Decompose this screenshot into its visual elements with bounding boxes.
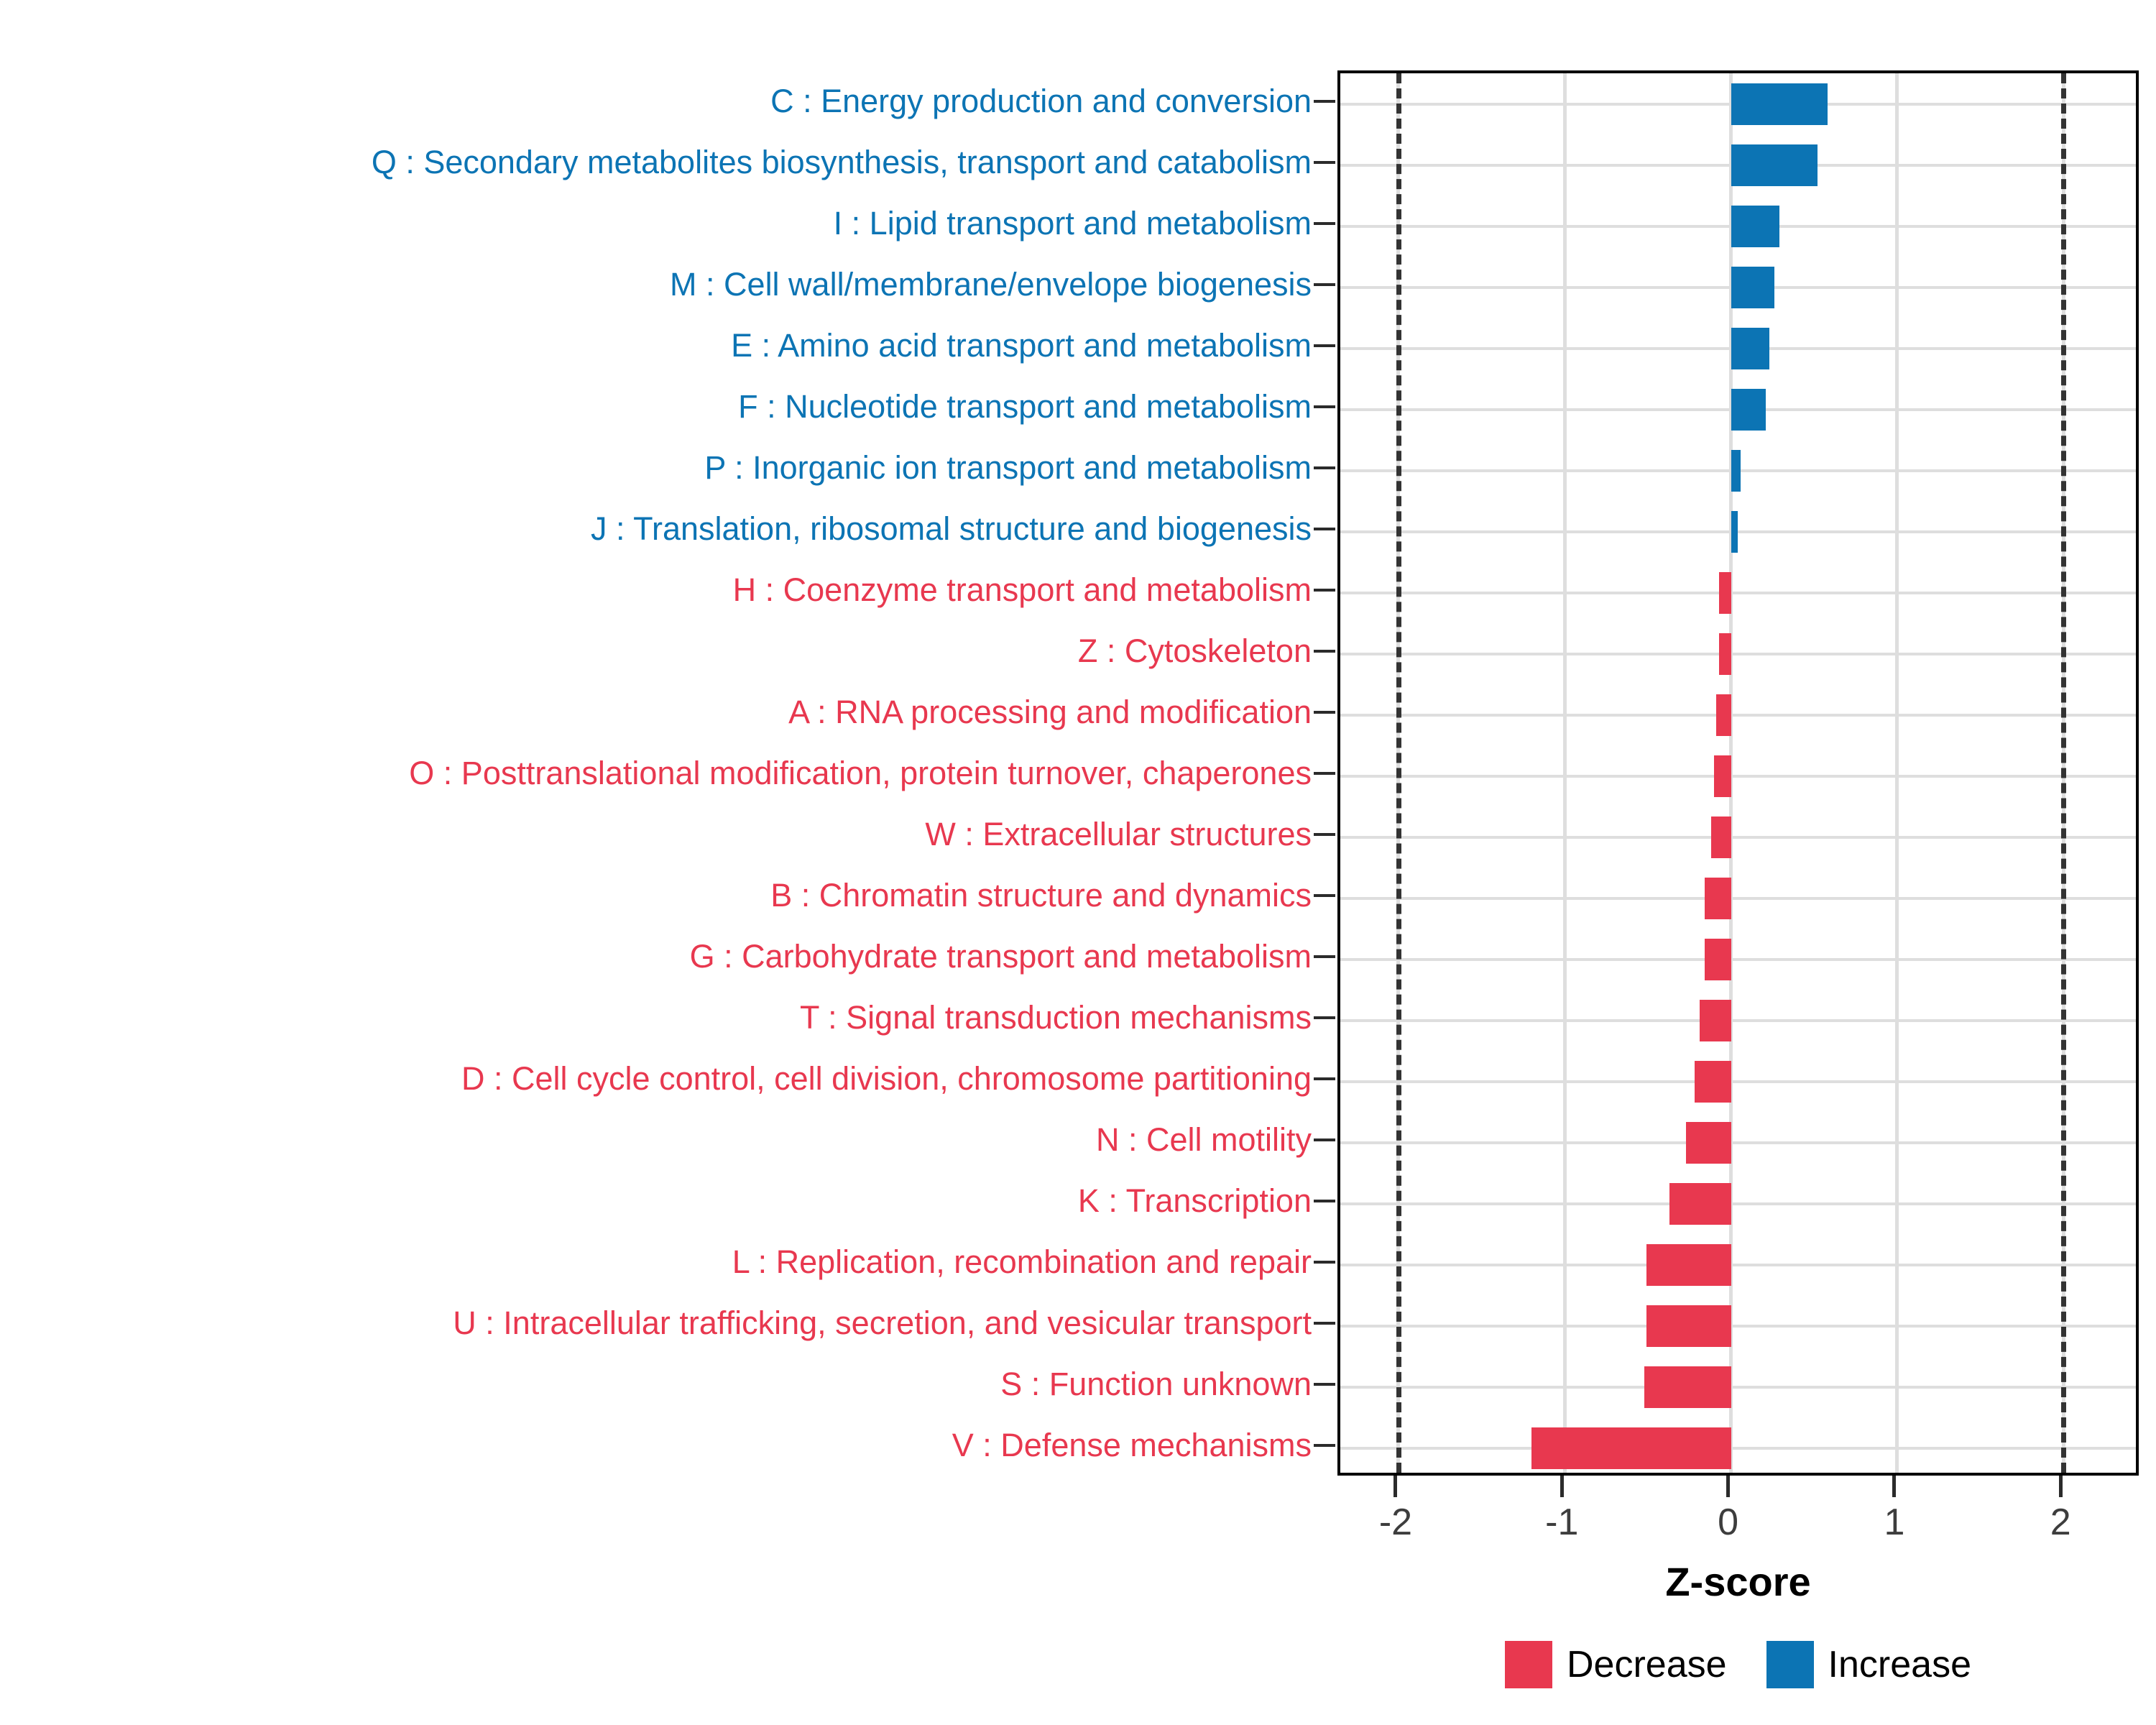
- y-axis-tick-mark: [1314, 466, 1335, 469]
- y-axis-tick-mark: [1314, 711, 1335, 714]
- bar: [1669, 1183, 1731, 1225]
- y-axis-tick-mark: [1314, 283, 1335, 286]
- bar: [1695, 1061, 1731, 1103]
- y-axis-tick-mark: [1314, 955, 1335, 958]
- legend-label: Increase: [1828, 1643, 1971, 1686]
- horizontal-gridline: [1340, 1202, 2136, 1205]
- y-axis-tick-mark: [1314, 772, 1335, 775]
- y-axis-tick-label: T : Signal transduction mechanisms: [800, 1000, 1312, 1036]
- x-axis-tick-label: -1: [1545, 1501, 1578, 1544]
- horizontal-gridline: [1340, 897, 2136, 900]
- chart-legend: DecreaseIncrease: [1337, 1636, 2139, 1693]
- legend-item[interactable]: Increase: [1766, 1641, 1971, 1688]
- vertical-gridline: [1895, 73, 1899, 1473]
- reference-line: [1396, 73, 1401, 1473]
- bar: [1731, 511, 1738, 553]
- bar: [1719, 633, 1731, 675]
- y-axis-tick-label: E : Amino acid transport and metabolism: [731, 328, 1312, 364]
- horizontal-gridline: [1340, 714, 2136, 717]
- y-axis-tick-mark: [1314, 161, 1335, 164]
- bar: [1714, 755, 1731, 797]
- y-axis-tick-label: N : Cell motility: [1096, 1122, 1312, 1158]
- bar: [1700, 1000, 1731, 1041]
- y-axis-tick-mark: [1314, 1077, 1335, 1080]
- y-axis-tick-mark: [1314, 100, 1335, 103]
- y-axis-tick-label: S : Function unknown: [1000, 1366, 1312, 1402]
- y-axis-tick-label: F : Nucleotide transport and metabolism: [738, 389, 1312, 425]
- y-axis-tick-mark: [1314, 222, 1335, 225]
- cog-functional-category-zscore-chart: C : Energy production and conversionQ : …: [0, 0, 2156, 1725]
- y-axis-tick-label: Z : Cytoskeleton: [1078, 633, 1312, 669]
- bar: [1646, 1244, 1731, 1286]
- legend-item[interactable]: Decrease: [1505, 1641, 1727, 1688]
- y-axis-tick-label: V : Defense mechanisms: [952, 1427, 1312, 1463]
- bar: [1719, 572, 1731, 614]
- legend-label: Decrease: [1567, 1643, 1727, 1686]
- bar: [1731, 83, 1828, 125]
- y-axis-tick-mark: [1314, 1016, 1335, 1019]
- y-axis-tick-mark: [1314, 1322, 1335, 1325]
- bar: [1686, 1122, 1731, 1164]
- bar: [1716, 694, 1731, 736]
- legend-color-swatch: [1766, 1641, 1814, 1688]
- y-axis-tick-label: L : Replication, recombination and repai…: [732, 1244, 1312, 1280]
- y-axis-category-labels: C : Energy production and conversionQ : …: [0, 70, 1312, 1476]
- x-axis-tick-mark: [2059, 1476, 2063, 1497]
- y-axis-tick-label: Q : Secondary metabolites biosynthesis, …: [372, 144, 1312, 180]
- x-axis-tick-label: 0: [1718, 1501, 1738, 1544]
- y-axis-tick-label: C : Energy production and conversion: [770, 83, 1312, 119]
- y-axis-tick-label: U : Intracellular trafficking, secretion…: [453, 1305, 1312, 1341]
- bar: [1731, 389, 1766, 431]
- x-axis-tick-label: -2: [1379, 1501, 1412, 1544]
- y-axis-tick-label: J : Translation, ribosomal structure and…: [591, 511, 1312, 547]
- horizontal-gridline: [1340, 592, 2136, 594]
- bar: [1731, 450, 1741, 492]
- y-axis-tick-mark: [1314, 650, 1335, 653]
- x-axis-tick-label: 1: [1884, 1501, 1904, 1544]
- bar: [1646, 1305, 1731, 1347]
- horizontal-gridline: [1340, 836, 2136, 839]
- bar: [1731, 267, 1774, 308]
- horizontal-gridline: [1340, 958, 2136, 961]
- x-axis-title: Z-score: [1337, 1558, 2139, 1605]
- y-axis-tick-mark: [1314, 589, 1335, 592]
- horizontal-gridline: [1340, 530, 2136, 533]
- horizontal-gridline: [1340, 1264, 2136, 1266]
- bar: [1731, 206, 1779, 247]
- y-axis-tick-mark: [1314, 833, 1335, 836]
- y-axis-tick-label: O : Posttranslational modification, prot…: [409, 755, 1312, 791]
- plot-area: [1340, 73, 2136, 1473]
- y-axis-tick-mark: [1314, 528, 1335, 530]
- y-axis-tick-mark: [1314, 405, 1335, 408]
- horizontal-gridline: [1340, 1019, 2136, 1022]
- bar: [1531, 1427, 1731, 1469]
- bar: [1705, 878, 1731, 919]
- x-axis-tick-mark: [1726, 1476, 1730, 1497]
- x-axis-tick-mark: [1560, 1476, 1564, 1497]
- horizontal-gridline: [1340, 775, 2136, 778]
- y-axis-tick-label: A : RNA processing and modification: [788, 694, 1312, 730]
- y-axis-tick-label: G : Carbohydrate transport and metabolis…: [690, 939, 1312, 975]
- horizontal-gridline: [1340, 1386, 2136, 1389]
- y-axis-tick-label: K : Transcription: [1078, 1183, 1312, 1219]
- y-axis-tick-label: P : Inorganic ion transport and metaboli…: [704, 450, 1312, 486]
- y-axis-tick-mark: [1314, 344, 1335, 347]
- y-axis-tick-mark: [1314, 1383, 1335, 1386]
- y-axis-tick-label: H : Coenzyme transport and metabolism: [733, 572, 1312, 608]
- plot-panel: [1337, 70, 2139, 1476]
- reference-line: [2061, 73, 2066, 1473]
- legend-color-swatch: [1505, 1641, 1552, 1688]
- bar: [1731, 144, 1818, 186]
- y-axis-tick-label: B : Chromatin structure and dynamics: [770, 878, 1312, 914]
- horizontal-gridline: [1340, 1447, 2136, 1450]
- horizontal-gridline: [1340, 1325, 2136, 1328]
- y-axis-tick-label: M : Cell wall/membrane/envelope biogenes…: [670, 267, 1312, 303]
- x-axis-tick-mark: [1393, 1476, 1397, 1497]
- bar: [1705, 939, 1731, 980]
- bar: [1711, 816, 1731, 858]
- x-axis-tick-mark: [1892, 1476, 1896, 1497]
- horizontal-gridline: [1340, 653, 2136, 655]
- horizontal-gridline: [1340, 1080, 2136, 1083]
- y-axis-tick-label: D : Cell cycle control, cell division, c…: [461, 1061, 1312, 1097]
- y-axis-tick-label: I : Lipid transport and metabolism: [834, 206, 1312, 241]
- x-axis-tick-label: 2: [2050, 1501, 2071, 1544]
- y-axis-tick-mark: [1314, 1200, 1335, 1202]
- y-axis-tick-mark: [1314, 894, 1335, 897]
- horizontal-gridline: [1340, 1141, 2136, 1144]
- vertical-gridline: [1563, 73, 1567, 1473]
- y-axis-tick-label: W : Extracellular structures: [925, 816, 1312, 852]
- bar: [1644, 1366, 1731, 1408]
- y-axis-tick-mark: [1314, 1261, 1335, 1264]
- bar: [1731, 328, 1769, 369]
- y-axis-tick-mark: [1314, 1444, 1335, 1447]
- y-axis-tick-mark: [1314, 1138, 1335, 1141]
